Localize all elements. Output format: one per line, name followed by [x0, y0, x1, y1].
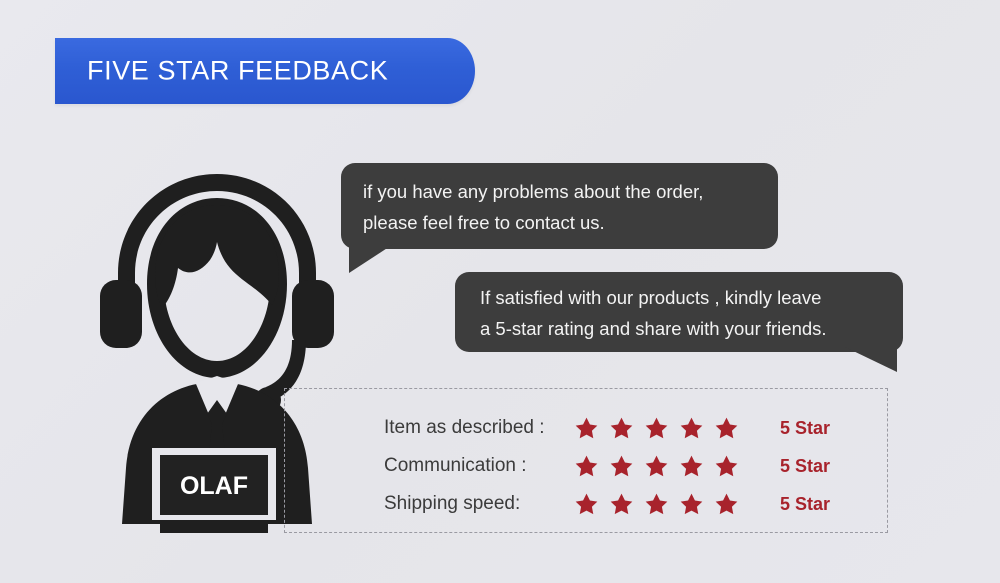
feedback-banner-stage: FIVE STAR FEEDBACK [0, 0, 1000, 583]
header-banner: FIVE STAR FEEDBACK [55, 38, 475, 104]
star-icon [574, 416, 599, 441]
star-icon [644, 454, 669, 479]
star-icon [714, 416, 739, 441]
speech-bubble-support-tail [349, 243, 395, 273]
speech-bubble-rating-tail [845, 347, 897, 372]
star-icon [574, 454, 599, 479]
rating-value: 5 Star [780, 456, 830, 477]
laptop-base [160, 522, 268, 533]
rating-row-communication: Communication : 5 Star [384, 449, 830, 483]
star-icon [609, 416, 634, 441]
rating-row-item-as-described: Item as described : 5 Star [384, 411, 830, 445]
rating-label: Shipping speed: [384, 493, 574, 515]
rating-value: 5 Star [780, 418, 830, 439]
rating-label: Item as described : [384, 417, 574, 439]
star-icon [714, 454, 739, 479]
rating-value: 5 Star [780, 494, 830, 515]
ratings-panel: Item as described : 5 Star Communication… [284, 388, 888, 533]
star-icon [679, 492, 704, 517]
star-icon [574, 492, 599, 517]
star-icon [644, 416, 669, 441]
star-icon [609, 454, 634, 479]
rating-label: Communication : [384, 455, 574, 477]
speech-bubble-rating-text: If satisfied with our products , kindly … [480, 282, 883, 344]
star-icon [679, 454, 704, 479]
speech-bubble-support-text: if you have any problems about the order… [363, 176, 758, 238]
star-icon [714, 492, 739, 517]
speech-bubble-rating: If satisfied with our products , kindly … [455, 272, 903, 352]
star-icon [609, 492, 634, 517]
star-rating-item-as-described [574, 416, 744, 441]
rating-row-shipping-speed: Shipping speed: 5 Star [384, 487, 830, 521]
star-icon [644, 492, 669, 517]
star-icon [679, 416, 704, 441]
star-rating-shipping-speed [574, 492, 744, 517]
page-title: FIVE STAR FEEDBACK [87, 56, 388, 87]
laptop-brand-text: OLAF [180, 472, 248, 500]
speech-bubble-support: if you have any problems about the order… [341, 163, 778, 249]
star-rating-communication [574, 454, 744, 479]
